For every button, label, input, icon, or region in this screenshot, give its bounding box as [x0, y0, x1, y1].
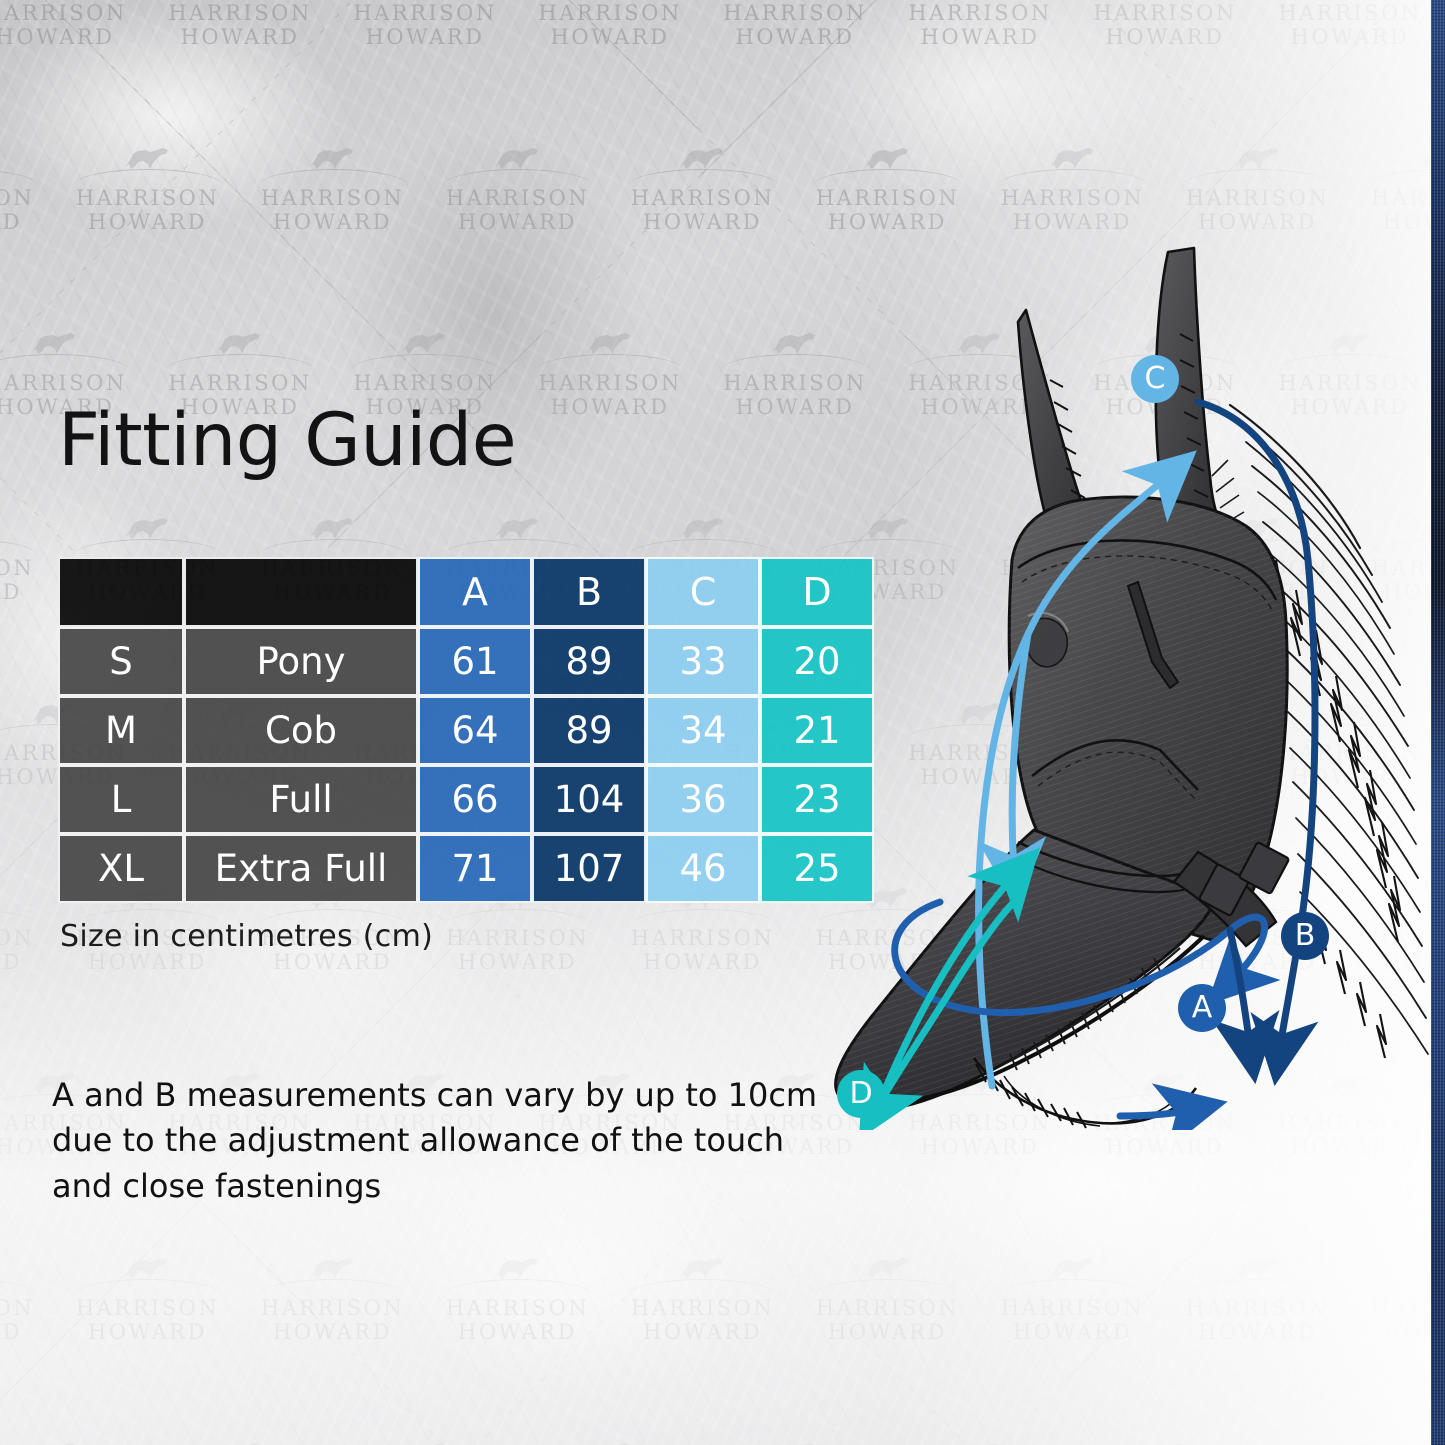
cell-name: Cob — [184, 696, 418, 765]
table-header-row: A B C D — [58, 557, 874, 627]
cell-a: 71 — [418, 834, 532, 903]
measurement-marker-d: D — [837, 1070, 885, 1118]
cell-size: S — [58, 627, 184, 696]
cell-a: 61 — [418, 627, 532, 696]
cell-size: M — [58, 696, 184, 765]
cell-b: 89 — [532, 696, 646, 765]
cell-c: 46 — [646, 834, 760, 903]
measurement-marker-c: C — [1131, 355, 1179, 403]
header-cell-b: B — [532, 557, 646, 627]
cell-c: 33 — [646, 627, 760, 696]
cell-d: 21 — [760, 696, 874, 765]
cell-d: 23 — [760, 765, 874, 834]
cell-a: 66 — [418, 765, 532, 834]
cell-name: Extra Full — [184, 834, 418, 903]
table-row: S Pony 61 89 33 20 — [58, 627, 874, 696]
cell-a: 64 — [418, 696, 532, 765]
header-cell-size — [58, 557, 184, 627]
header-cell-d: D — [760, 557, 874, 627]
table-row: M Cob 64 89 34 21 — [58, 696, 874, 765]
cell-c: 36 — [646, 765, 760, 834]
measurement-marker-b: B — [1281, 912, 1329, 960]
fitting-footnote: A and B measurements can vary by up to 1… — [52, 1073, 832, 1209]
cell-name: Pony — [184, 627, 418, 696]
header-cell-name — [184, 557, 418, 627]
header-cell-c: C — [646, 557, 760, 627]
size-chart-table: A B C D S Pony 61 89 33 20 M Cob 64 89 3… — [58, 557, 874, 903]
table-unit-note: Size in centimetres (cm) — [60, 919, 433, 954]
page-title: Fitting Guide — [58, 404, 516, 477]
table-row: XL Extra Full 71 107 46 25 — [58, 834, 874, 903]
fitting-guide-infographic: HARRISONHOWARDHARRISONHOWARDHARRISONHOWA… — [0, 0, 1445, 1445]
cell-b: 104 — [532, 765, 646, 834]
cell-b: 107 — [532, 834, 646, 903]
measure-arrow-b-branch — [1230, 930, 1250, 1046]
measure-arrow-a-pointer — [1120, 1110, 1190, 1116]
table-row: L Full 66 104 36 23 — [58, 765, 874, 834]
cell-d: 20 — [760, 627, 874, 696]
cell-name: Full — [184, 765, 418, 834]
measurement-marker-a: A — [1178, 984, 1226, 1032]
cell-d: 25 — [760, 834, 874, 903]
header-cell-a: A — [418, 557, 532, 627]
right-edge-denim-strip — [1431, 0, 1445, 1445]
cell-c: 34 — [646, 696, 760, 765]
cell-size: L — [58, 765, 184, 834]
cell-b: 89 — [532, 627, 646, 696]
cell-size: XL — [58, 834, 184, 903]
